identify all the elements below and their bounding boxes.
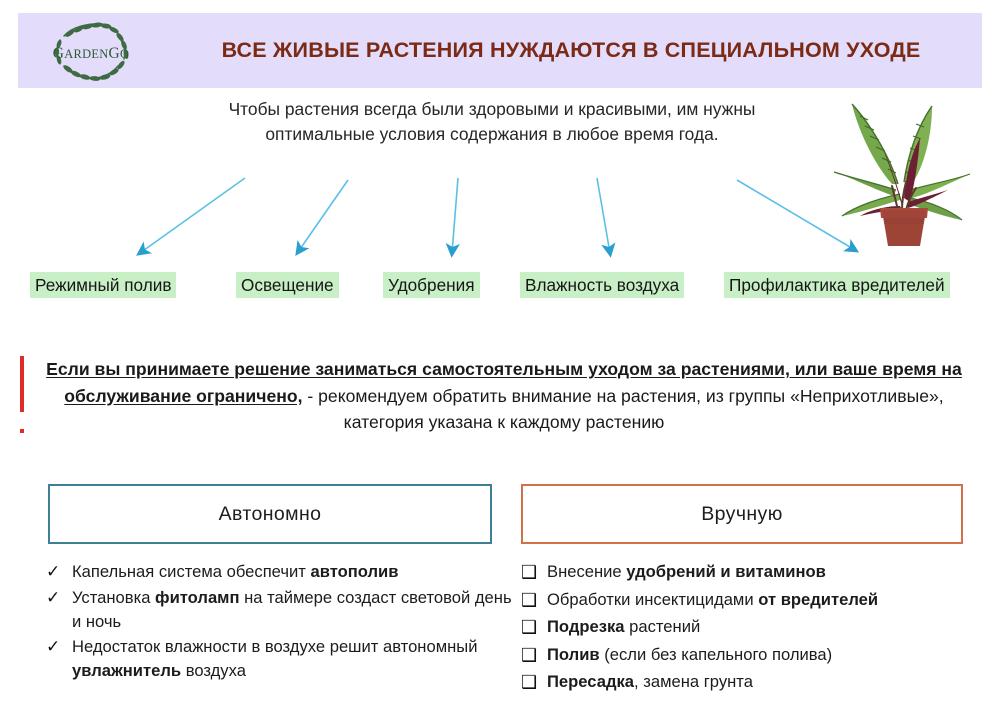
checkbox-empty-icon[interactable]: ❑ [521,588,547,614]
arrow-4 [597,178,610,253]
manual-list: ❑ Внесение удобрений и витаминов ❑ Обраб… [521,560,991,698]
list-item: ❑ Пересадка, замена грунта [521,670,991,696]
list-item-text: Внесение удобрений и витаминов [547,560,991,584]
list-item: ❑ Полив (если без капельного полива) [521,643,991,669]
list-item: ❑ Подрезка растений [521,615,991,641]
tag-watering[interactable]: Режимный полив [30,272,176,298]
list-item-text: Пересадка, замена грунта [547,670,991,694]
checkbox-empty-icon[interactable]: ❑ [521,643,547,669]
list-item-text: Недостаток влажности в воздухе решит авт… [72,635,516,682]
arrow-1 [140,178,245,253]
quote-accent-bar [20,356,24,412]
quote-accent-dot [20,429,24,433]
page-title: ВСЕ ЖИВЫЕ РАСТЕНИЯ НУЖДАЮТСЯ В СПЕЦИАЛЬН… [160,13,982,88]
list-item: ❑ Обработки инсектицидами от вредителей [521,588,991,614]
plant-image [820,86,985,251]
column-header-autonomous-label: Автономно [219,503,322,526]
list-item: ❑ Внесение удобрений и витаминов [521,560,991,586]
check-icon: ✓ [46,586,72,610]
care-tags-row: Режимный полив Освещение Удобрения Влажн… [30,272,980,300]
list-item-text: Обработки инсектицидами от вредителей [547,588,991,612]
check-icon: ✓ [46,560,72,584]
column-header-manual[interactable]: Вручную [521,484,963,544]
checkbox-empty-icon[interactable]: ❑ [521,560,547,586]
list-item-text: Установка фитоламп на таймере создаст св… [72,586,516,633]
intro-paragraph: Чтобы растения всегда были здоровыми и к… [172,97,812,146]
column-header-autonomous[interactable]: Автономно [48,484,492,544]
intro-line-2: оптимальные условия содержания в любое в… [172,122,812,147]
arrow-3 [452,178,458,253]
checkbox-empty-icon[interactable]: ❑ [521,670,547,696]
gardengo-logo: GARDENGO [30,18,152,84]
list-item-text: Полив (если без капельного полива) [547,643,991,667]
arrow-2 [298,180,348,252]
column-header-manual-label: Вручную [701,503,783,526]
calathea-plant-illustration [820,86,985,251]
intro-line-1: Чтобы растения всегда были здоровыми и к… [172,97,812,122]
check-icon: ✓ [46,635,72,659]
list-item: ✓ Капельная система обеспечит автополив [46,560,516,584]
list-item: ✓ Установка фитоламп на таймере создаст … [46,586,516,633]
list-item-text: Подрезка растений [547,615,991,639]
laurel-wreath-icon: GARDENGO [30,18,152,84]
quote-block: Если вы принимаете решение заниматься са… [44,356,964,436]
autonomous-list: ✓ Капельная система обеспечит автополив … [46,560,516,684]
tag-humidity[interactable]: Влажность воздуха [520,272,684,298]
quote-rest: - рекомендуем обратить внимание на расте… [303,386,944,433]
slide-root: GARDENGO ВСЕ ЖИВЫЕ РАСТЕНИЯ НУЖДАЮТСЯ В … [0,0,1000,724]
checkbox-empty-icon[interactable]: ❑ [521,615,547,641]
tag-lighting[interactable]: Освещение [236,272,339,298]
list-item-text: Капельная система обеспечит автополив [72,560,516,584]
tag-fertilizer[interactable]: Удобрения [383,272,480,298]
list-item: ✓ Недостаток влажности в воздухе решит а… [46,635,516,682]
logo-wordmark: GARDENGO [53,45,129,62]
tag-pest-prevention[interactable]: Профилактика вредителей [724,272,950,298]
